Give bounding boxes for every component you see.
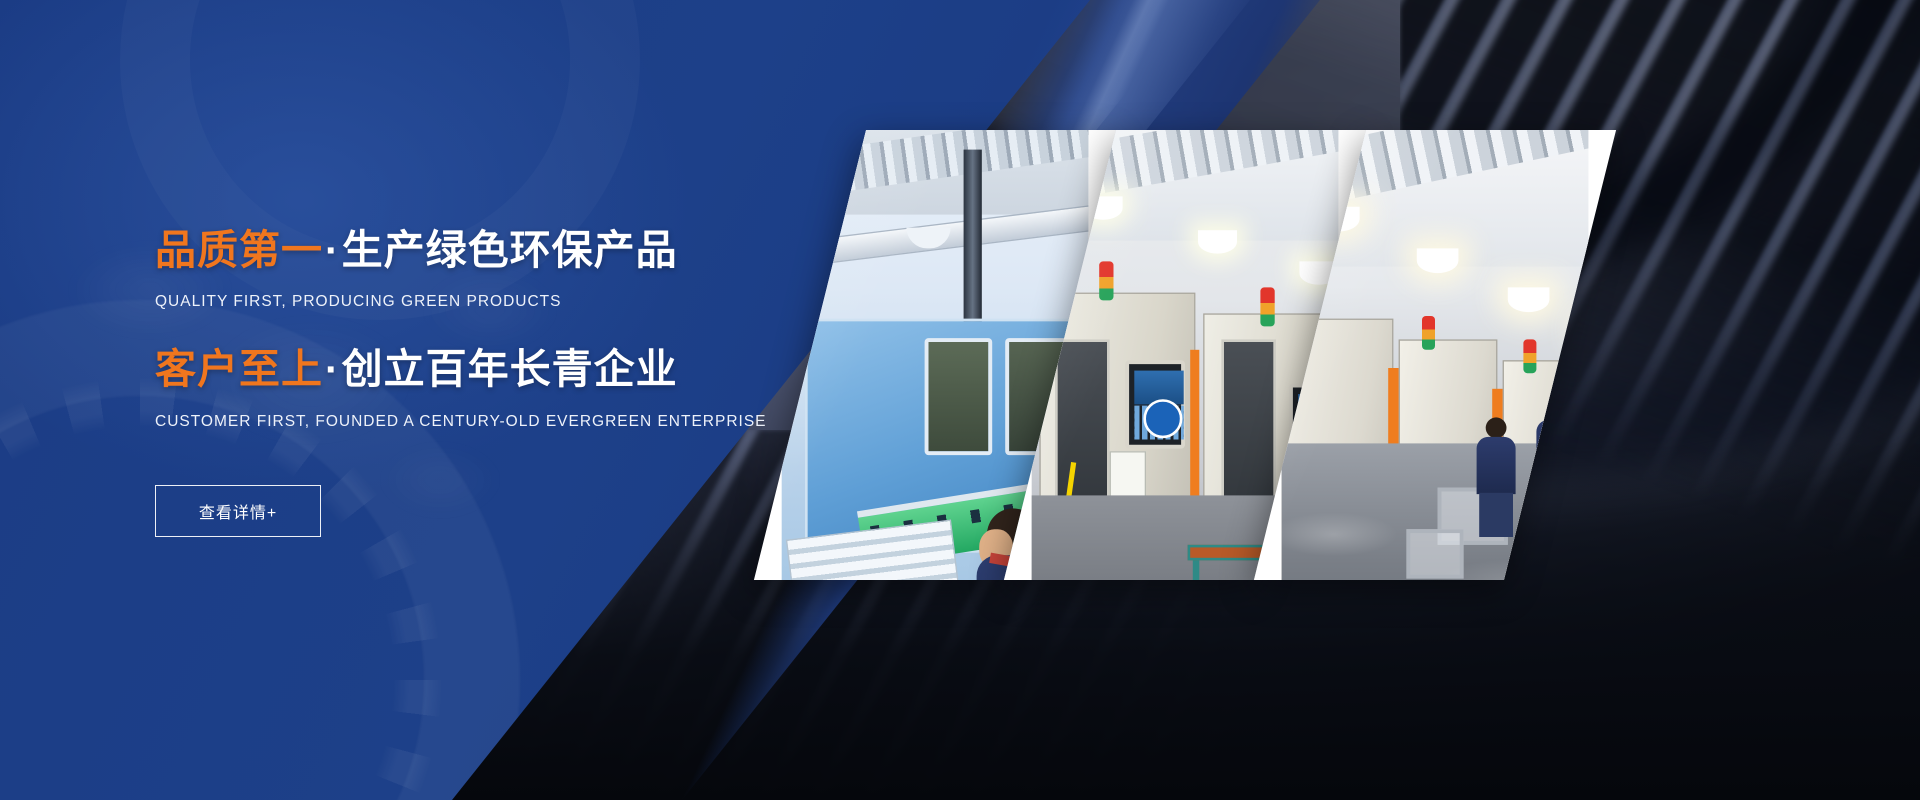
headline-1-accent: 品质第一: [155, 227, 323, 273]
hero-banner: 品质第一·生产绿色环保产品 QUALITY FIRST, PRODUCING G…: [0, 0, 1920, 800]
headline-2-separator: ·: [323, 346, 342, 392]
headline-1-separator: ·: [323, 227, 342, 273]
subtitle-line-2: CUSTOMER FIRST, FOUNDED A CENTURY-OLD EV…: [155, 413, 775, 431]
copy-spacer: [155, 311, 775, 345]
hero-copy: 品质第一·生产绿色环保产品 QUALITY FIRST, PRODUCING G…: [155, 226, 775, 537]
subtitle-line-1: QUALITY FIRST, PRODUCING GREEN PRODUCTS: [155, 293, 775, 311]
view-details-button[interactable]: 查看详情+: [155, 485, 321, 537]
headline-1-rest: 生产绿色环保产品: [342, 227, 678, 273]
headline-2-rest: 创立百年长青企业: [342, 346, 678, 392]
headline-line-1: 品质第一·生产绿色环保产品: [155, 226, 775, 274]
headline-line-2: 客户至上·创立百年长青企业: [155, 345, 775, 393]
headline-2-accent: 客户至上: [155, 346, 323, 392]
